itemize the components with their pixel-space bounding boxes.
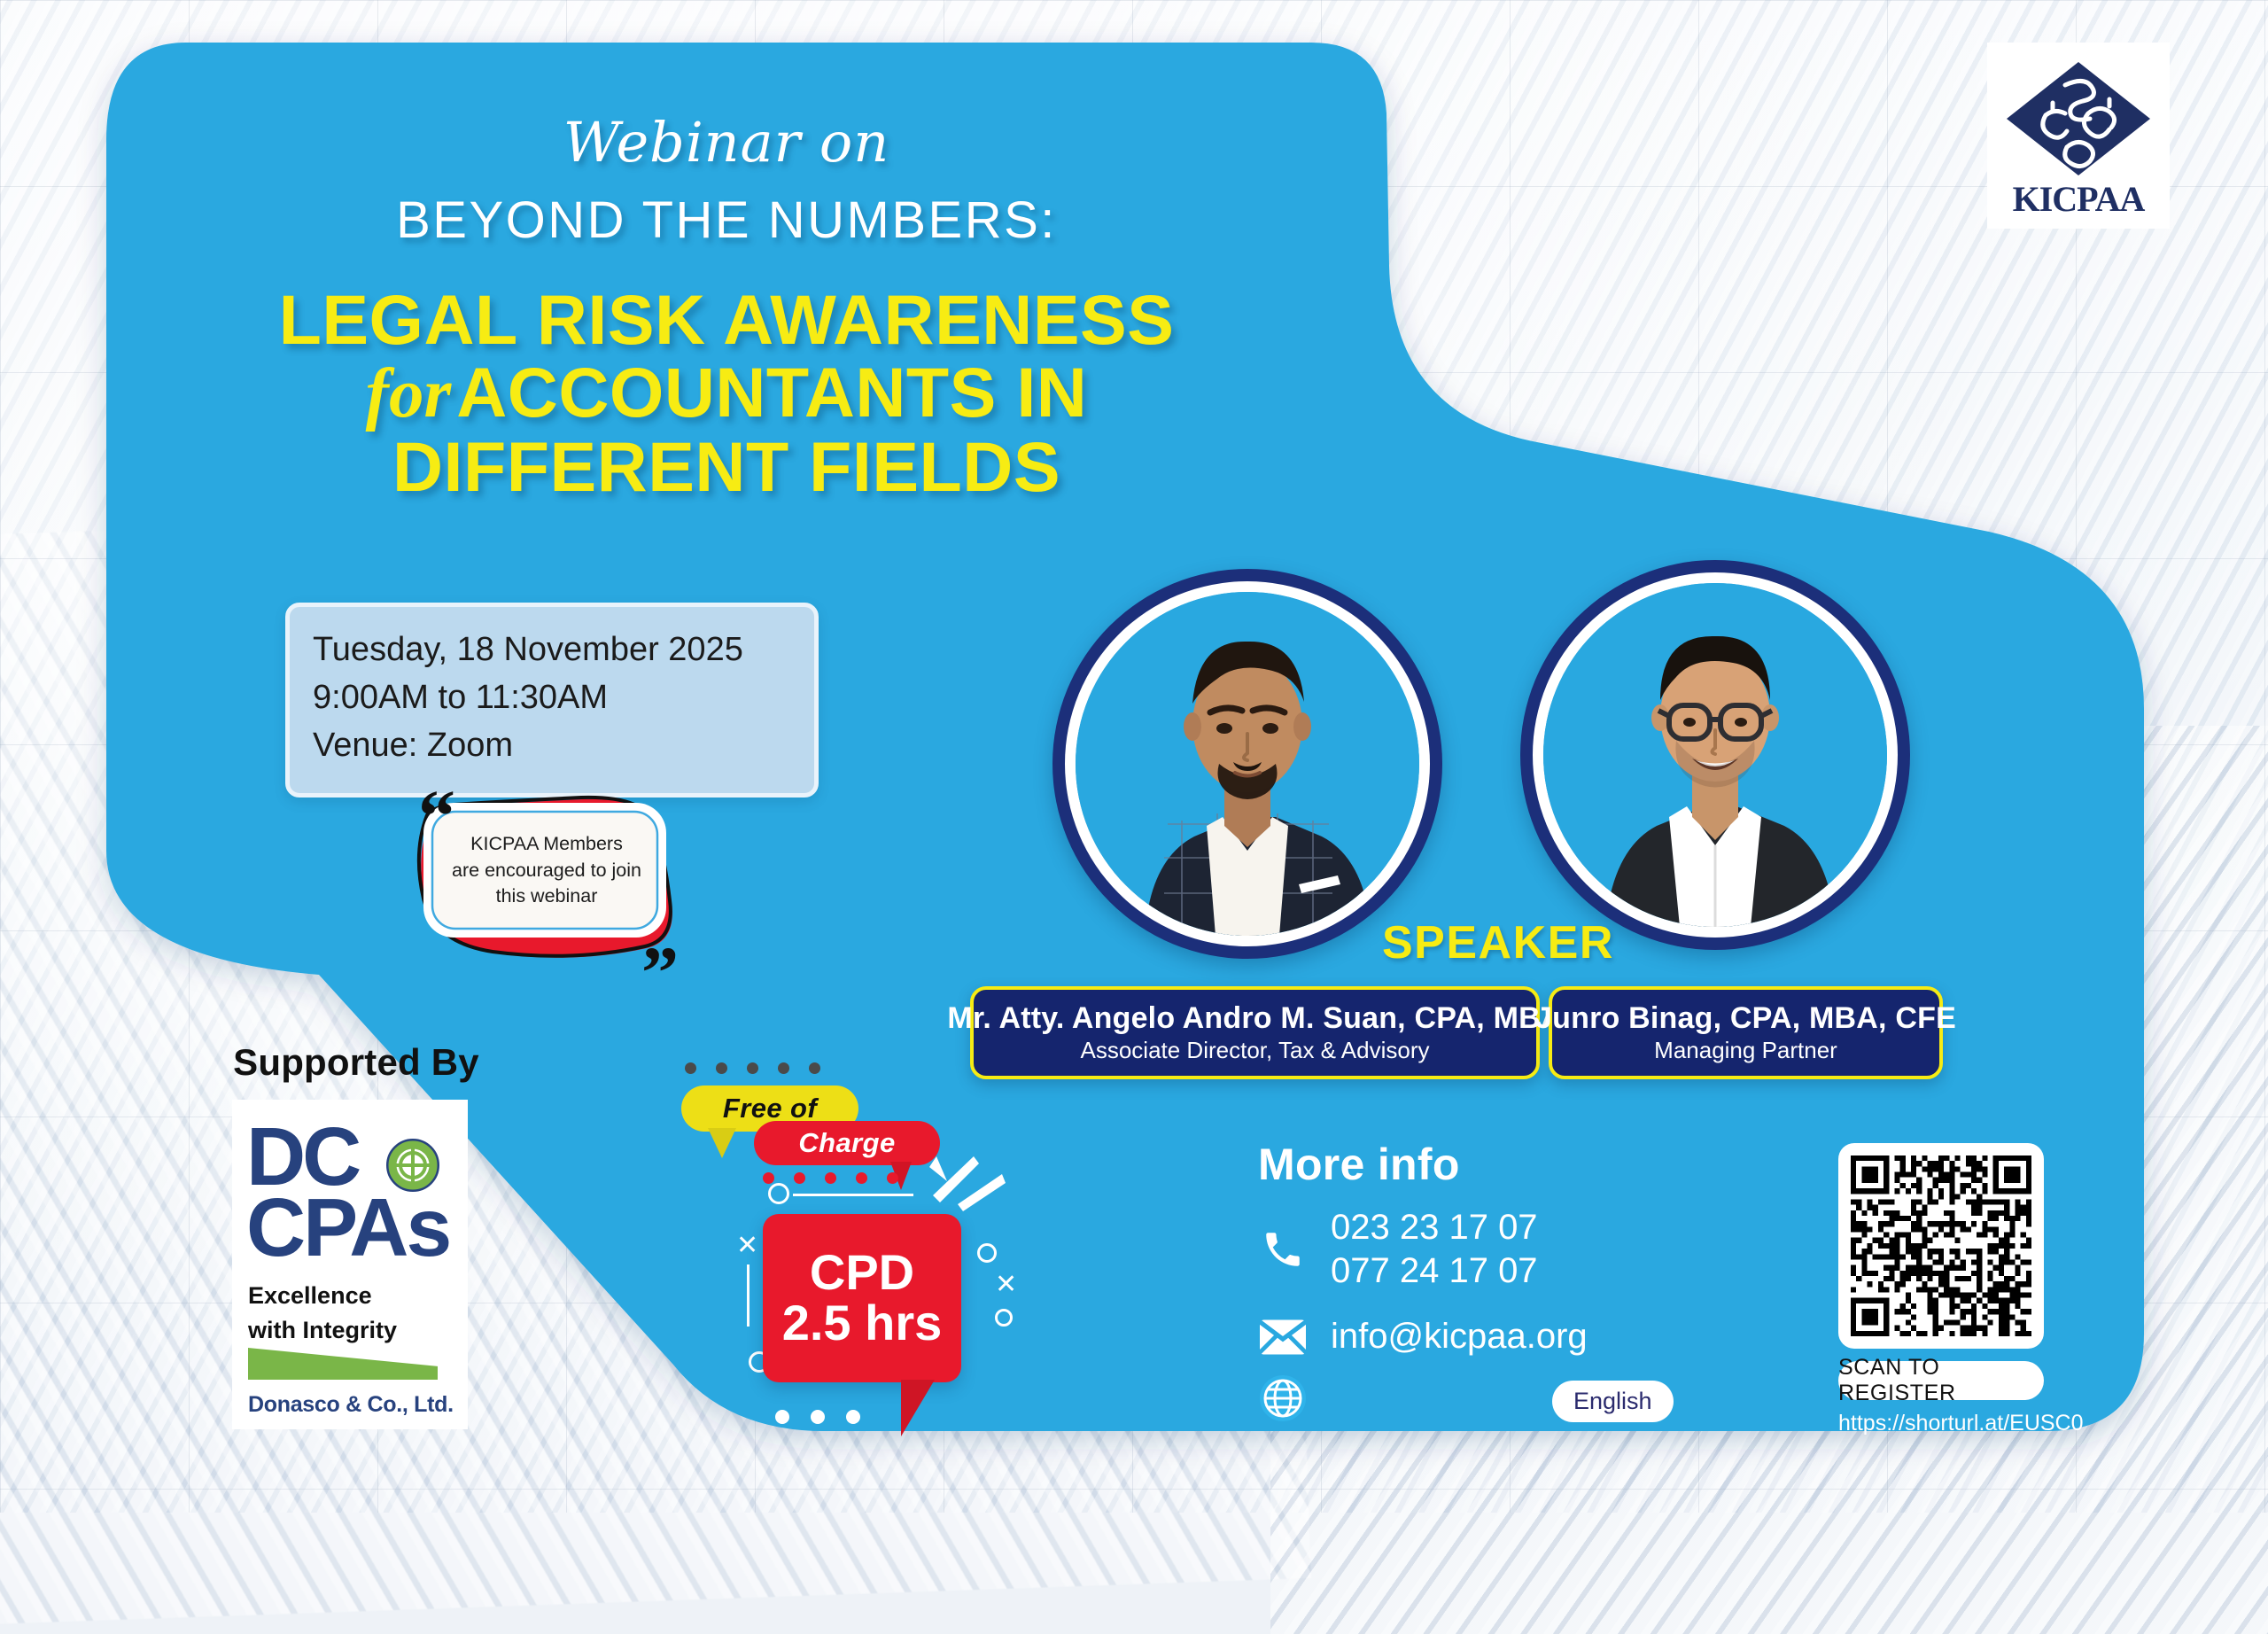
email-icon [1258, 1312, 1308, 1362]
promo-block: Free of Charge ✕ ✕ CPD 2.5 hrs [669, 1059, 1050, 1440]
cpd-bubble-tail [901, 1380, 935, 1436]
speaker-photo-2 [1520, 560, 1910, 950]
webinar-script-label: Webinar on [115, 115, 1338, 170]
title-line-3: DIFFERENT FIELDS [115, 431, 1338, 503]
kicpaa-logo: KICPAA [1987, 43, 2170, 229]
promo-dot-row-dark [685, 1062, 820, 1074]
speaker-role-2: Managing Partner [1654, 1039, 1837, 1062]
free-of-label: Free of [723, 1093, 817, 1124]
scan-to-register-pill[interactable]: SCAN TO REGISTER [1838, 1361, 2044, 1400]
webinar-main-title: LEGAL RISK AWARENESS forACCOUNTANTS IN D… [115, 284, 1338, 503]
quote-close-mark: ” [641, 937, 679, 1011]
cpd-hours: 2.5 hrs [782, 1297, 943, 1350]
cpd-badge: CPD 2.5 hrs [763, 1214, 961, 1382]
decor-burst-icon [928, 1155, 1007, 1213]
cpd-decor-line [793, 1194, 913, 1196]
more-info-block: More info 023 23 17 07 077 24 17 07 info… [1258, 1139, 1807, 1374]
title-line-1: LEGAL RISK AWARENESS [115, 284, 1338, 356]
speaker-name-2: Junro Binag, CPA, MBA, CFE [1535, 1003, 1956, 1035]
speaker-photo-1 [1052, 569, 1442, 959]
free-bubble-tail [708, 1128, 736, 1158]
decor-line-1 [747, 1264, 750, 1327]
dc-logo-mark-bottom: CPAs [246, 1187, 449, 1269]
decor-x-1: ✕ [736, 1233, 758, 1259]
promo-dot-row-white [775, 1410, 860, 1424]
phone-row[interactable]: 023 23 17 07 077 24 17 07 [1258, 1206, 1807, 1293]
decor-x-2: ✕ [995, 1272, 1017, 1298]
webinar-subtitle: BEYOND THE NUMBERS: [115, 195, 1338, 246]
speaker-card-2: Junro Binag, CPA, MBA, CFE Managing Part… [1549, 986, 1943, 1079]
phone-icon [1258, 1225, 1308, 1274]
registration-url[interactable]: https://shorturl.at/EUSC0 [1838, 1411, 2051, 1436]
phone-numbers: 023 23 17 07 077 24 17 07 [1331, 1206, 1538, 1293]
dc-logo-green-wedge [248, 1348, 438, 1380]
speaker-role-1: Associate Director, Tax & Advisory [1080, 1039, 1429, 1062]
decor-circle-2 [977, 1243, 997, 1263]
decor-circle-1 [768, 1183, 789, 1204]
phone-number-2: 077 24 17 07 [1331, 1249, 1538, 1293]
title-for-word: for [366, 355, 457, 432]
dc-logo-tagline: Excellence with Integrity [248, 1279, 397, 1348]
phone-number-1: 023 23 17 07 [1331, 1206, 1538, 1249]
decor-circle-3 [995, 1309, 1013, 1327]
cpd-label: CPD [810, 1247, 914, 1297]
quote-text: KICPAA Members are encouraged to join th… [431, 831, 663, 910]
event-date: Tuesday, 18 November 2025 [313, 626, 791, 674]
charge-label: Charge [798, 1127, 895, 1159]
kicpaa-diamond-icon: KICPAA [1996, 51, 2161, 220]
members-quote-bubble: “ KICPAA Members are encouraged to join … [409, 789, 684, 970]
speaker-name-1: Mr. Atty. Angelo Andro M. Suan, CPA, MBA [947, 1003, 1562, 1035]
scan-to-register-label: SCAN TO REGISTER [1838, 1355, 2044, 1406]
supported-by-label: Supported By [232, 1041, 480, 1084]
dc-tagline-line-2: with Integrity [248, 1313, 397, 1348]
quote-line-1: KICPAA Members [431, 831, 663, 858]
event-venue: Venue: Zoom [313, 722, 791, 770]
speaker-portrait-1 [1076, 592, 1419, 936]
event-time: 9:00AM to 11:30AM [313, 674, 791, 722]
speaker-section-label: SPEAKER [1382, 916, 1577, 969]
event-details-box: Tuesday, 18 November 2025 9:00AM to 11:3… [285, 603, 819, 798]
qr-code-card[interactable] [1838, 1143, 2044, 1349]
dc-tagline-line-1: Excellence [248, 1279, 397, 1313]
globe-icon [1256, 1372, 1309, 1425]
email-row[interactable]: info@kicpaa.org [1258, 1312, 1807, 1362]
dc-logo-firm-name: Donasco & Co., Ltd. [248, 1392, 454, 1418]
title-line-2: forACCOUNTANTS IN [115, 356, 1338, 431]
dc-cpas-logo: DC CPAs Excellence with Integrity Donasc… [232, 1100, 468, 1429]
quote-line-3: this webinar [431, 883, 663, 910]
qr-code-image[interactable] [1851, 1155, 2031, 1336]
title-block: Webinar on BEYOND THE NUMBERS: LEGAL RIS… [115, 115, 1338, 503]
speaker-card-1: Mr. Atty. Angelo Andro M. Suan, CPA, MBA… [970, 986, 1540, 1079]
kicpaa-wordmark: KICPAA [2013, 179, 2146, 219]
speaker-portrait-2 [1543, 583, 1887, 927]
title-line-2-rest: ACCOUNTANTS IN [456, 353, 1087, 432]
email-address: info@kicpaa.org [1331, 1317, 1588, 1357]
more-info-title: More info [1258, 1139, 1807, 1190]
supported-by-block: Supported By DC CPAs Excellence with Int… [232, 1041, 480, 1429]
interpretation-option-english[interactable]: English [1552, 1381, 1674, 1422]
registration-block[interactable]: SCAN TO REGISTER https://shorturl.at/EUS… [1838, 1143, 2069, 1436]
charge-badge: Charge [754, 1121, 940, 1165]
promo-dot-row-red [763, 1172, 898, 1184]
quote-line-2: are encouraged to join [431, 858, 663, 884]
